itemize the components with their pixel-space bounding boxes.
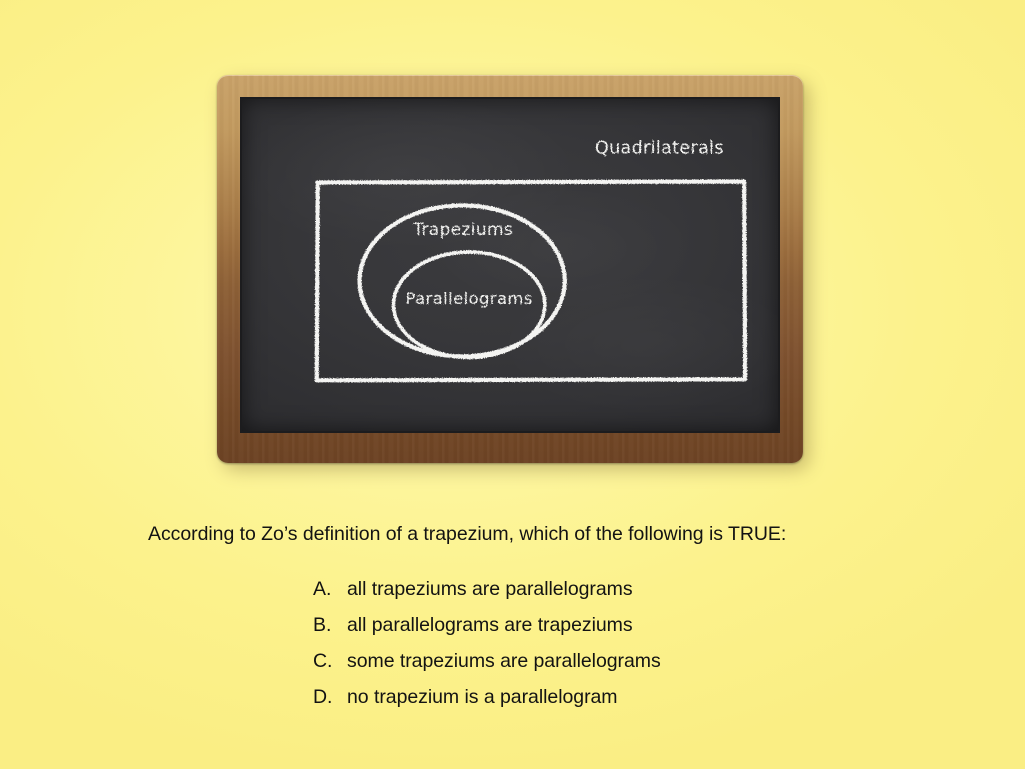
option-letter-c: C. — [313, 650, 347, 673]
trapeziums-label: Trapeziums — [412, 219, 513, 239]
slide-canvas: Quadrilaterals Trapeziums Parallelograms… — [0, 0, 1025, 769]
option-letter-b: B. — [313, 614, 347, 637]
question-text: According to Zo’s definition of a trapez… — [148, 523, 786, 546]
quadrilaterals-rectangle — [317, 182, 745, 381]
option-row-c[interactable]: C. some trapeziums are parallelograms — [313, 650, 953, 686]
option-text-c: some trapeziums are parallelograms — [347, 650, 661, 673]
option-row-b[interactable]: B. all parallelograms are trapeziums — [313, 614, 953, 650]
option-text-b: all parallelograms are trapeziums — [347, 614, 633, 637]
option-letter-a: A. — [313, 578, 347, 601]
options-list: A. all trapeziums are parallelograms B. … — [313, 578, 953, 722]
option-text-d: no trapezium is a parallelogram — [347, 686, 618, 709]
chalkboard-surface: Quadrilaterals Trapeziums Parallelograms — [240, 97, 780, 433]
quadrilaterals-label: Quadrilaterals — [595, 139, 724, 159]
chalk-diagram: Quadrilaterals Trapeziums Parallelograms — [242, 99, 778, 431]
chalkboard: Quadrilaterals Trapeziums Parallelograms — [217, 75, 803, 463]
option-text-a: all trapeziums are parallelograms — [347, 578, 633, 601]
option-row-d[interactable]: D. no trapezium is a parallelogram — [313, 686, 953, 722]
option-row-a[interactable]: A. all trapeziums are parallelograms — [313, 578, 953, 614]
option-letter-d: D. — [313, 686, 347, 709]
parallelograms-label: Parallelograms — [406, 289, 533, 308]
